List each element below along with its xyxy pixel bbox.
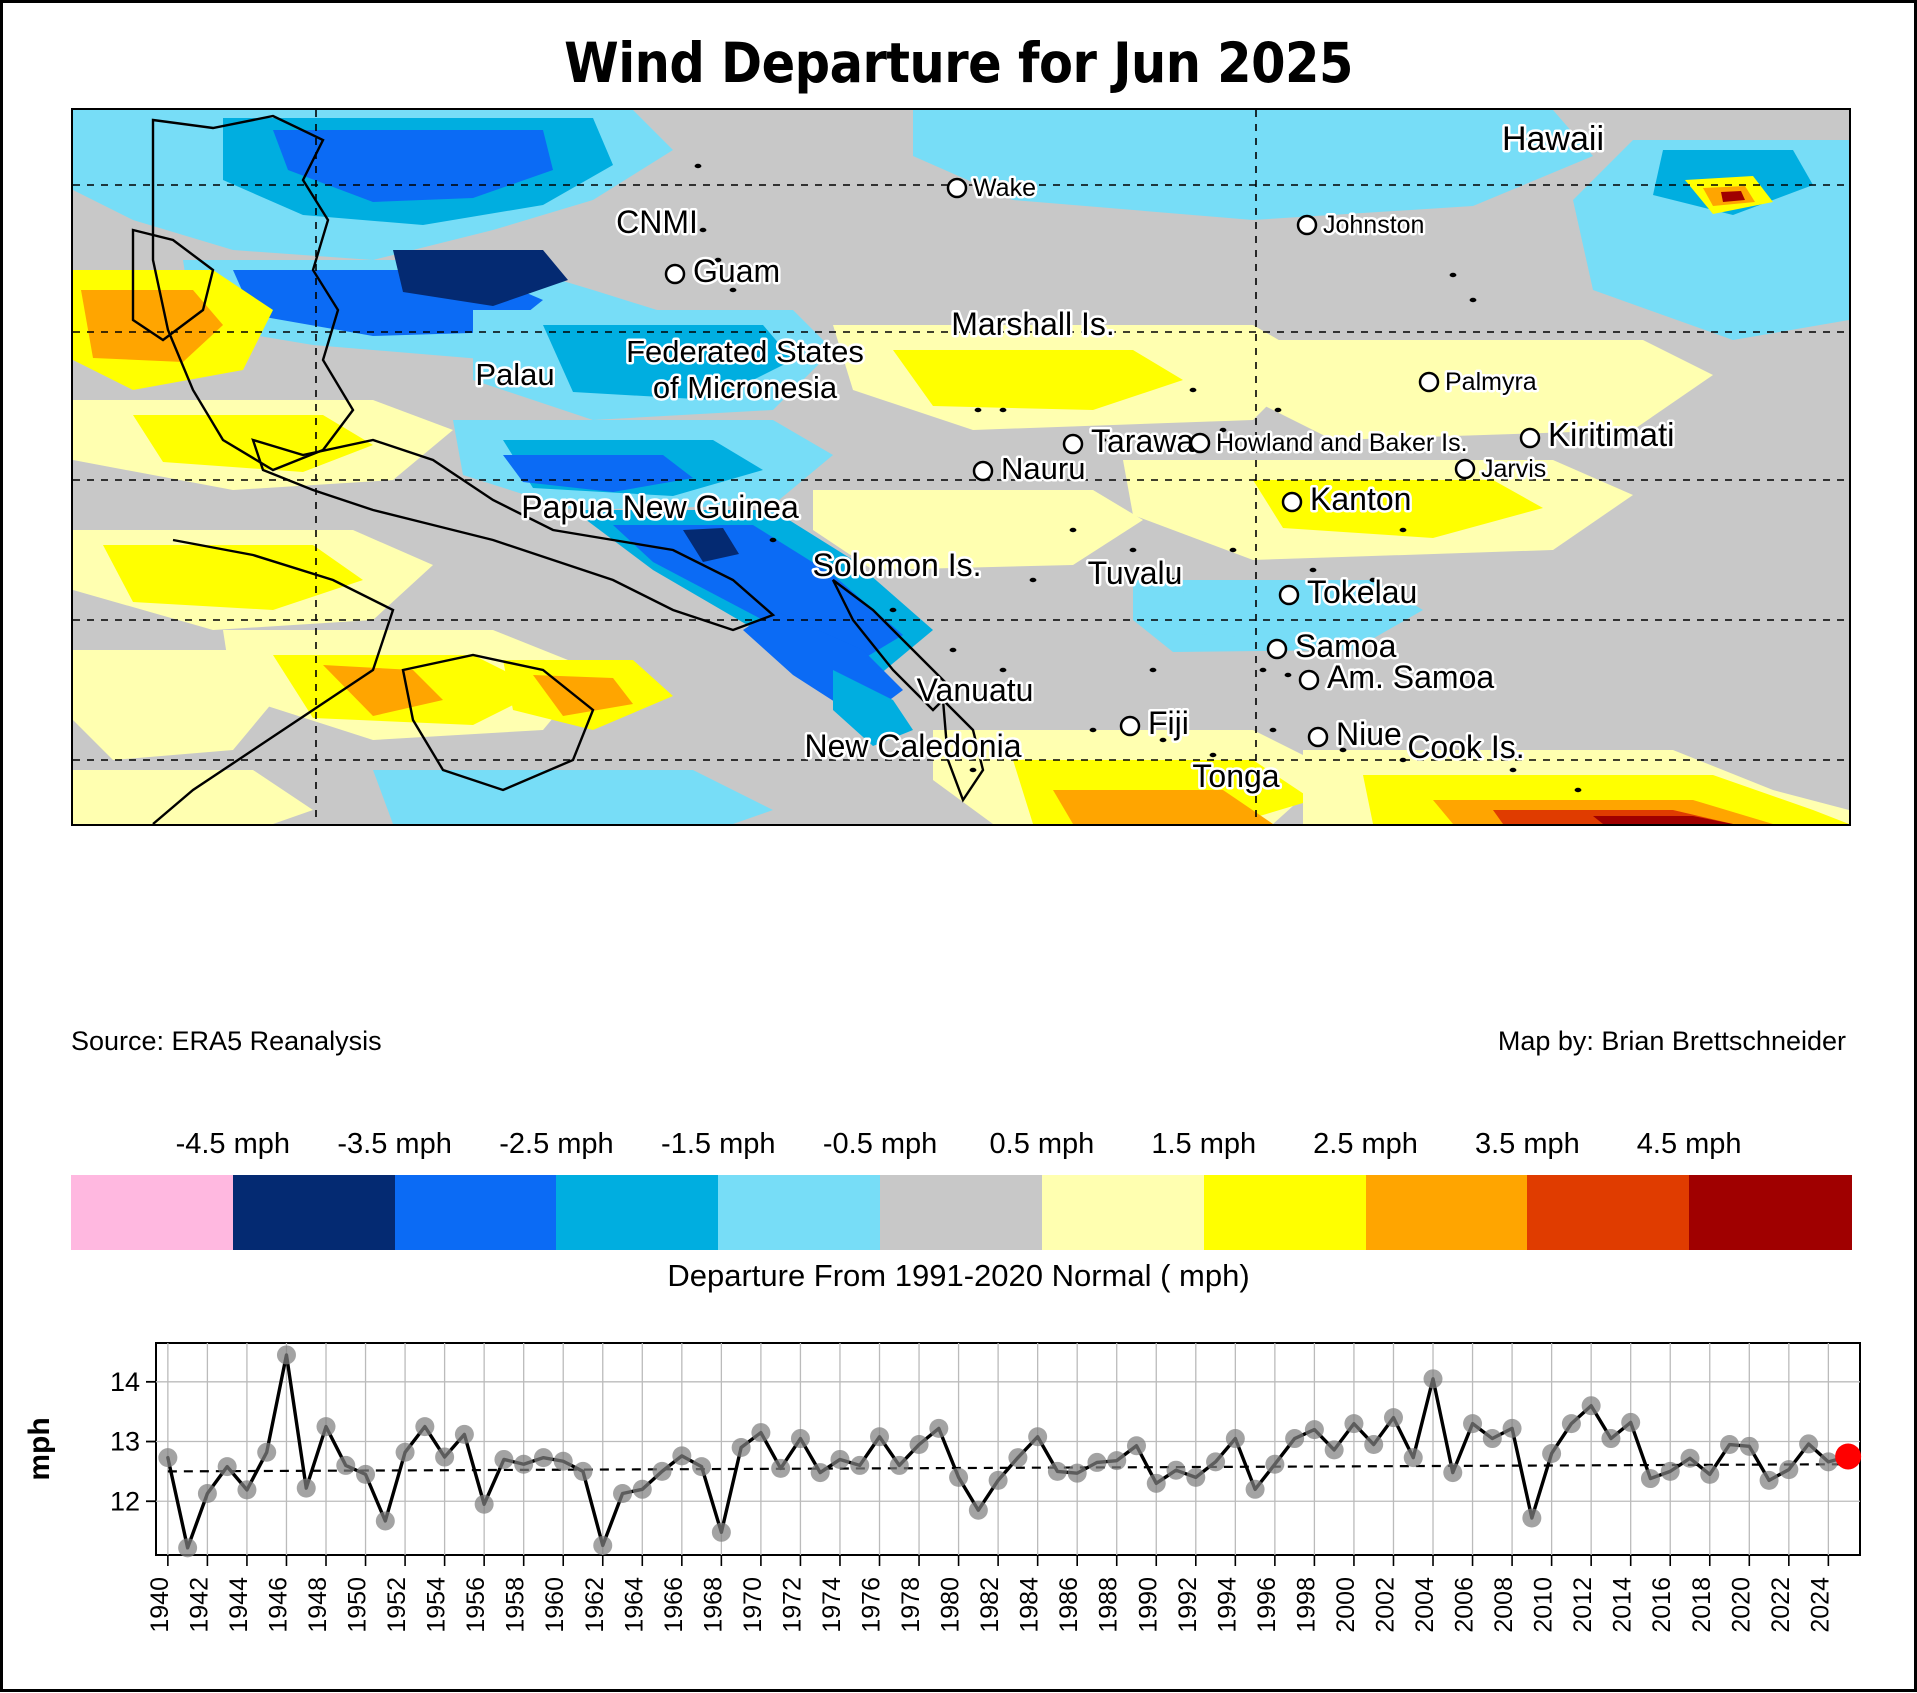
xtick-label-1994: 1994 (1213, 1577, 1241, 1633)
city-marker-howland-and-baker-is- (1191, 434, 1209, 452)
xtick-label-1996: 1996 (1253, 1577, 1281, 1633)
xtick-label-1970: 1970 (739, 1577, 767, 1633)
city-marker-samoa (1268, 640, 1286, 658)
data-point-1946 (277, 1345, 296, 1364)
xtick-label-1972: 1972 (778, 1577, 806, 1633)
map-label-fiji: Fiji (1148, 705, 1189, 741)
data-point-2008 (1503, 1419, 1522, 1438)
map-label-wake: Wake (973, 174, 1036, 202)
data-point-1975 (850, 1456, 869, 1475)
data-point-1999 (1325, 1440, 1344, 1459)
author-credit: Map by: Brian Brettschneider (1498, 1026, 1846, 1057)
data-point-2019 (1720, 1435, 1739, 1454)
xtick-label-1954: 1954 (423, 1577, 451, 1633)
island-speck (1130, 548, 1137, 552)
data-point-1941 (178, 1538, 197, 1557)
data-point-1962 (593, 1536, 612, 1555)
xtick-label-2014: 2014 (1609, 1577, 1637, 1633)
data-point-1993 (1206, 1452, 1225, 1471)
island-speck (1270, 728, 1277, 732)
city-marker-guam (666, 265, 684, 283)
data-point-1980 (949, 1468, 968, 1487)
map-label-palau: Palau (475, 357, 554, 392)
data-point-1990 (1147, 1474, 1166, 1493)
data-point-2014 (1621, 1413, 1640, 1432)
data-point-1953 (415, 1417, 434, 1436)
xtick-label-1982: 1982 (976, 1577, 1004, 1633)
data-point-1948 (317, 1417, 336, 1436)
data-point-1981 (969, 1501, 988, 1520)
island-speck (1285, 673, 1292, 677)
island-speck (1190, 388, 1197, 392)
colorbar-band-3 (556, 1175, 718, 1250)
data-point-2005 (1443, 1463, 1462, 1482)
island-speck (970, 768, 977, 772)
data-point-2011 (1562, 1414, 1581, 1433)
map-label-solomon-is-: Solomon Is. (813, 547, 982, 583)
city-marker-tokelau (1280, 586, 1298, 604)
data-point-1971 (771, 1459, 790, 1478)
data-point-2017 (1680, 1449, 1699, 1468)
xtick-label-2006: 2006 (1451, 1577, 1479, 1633)
xtick-label-2012: 2012 (1569, 1577, 1597, 1633)
data-point-2000 (1344, 1414, 1363, 1433)
data-point-2022 (1779, 1460, 1798, 1479)
island-speck (700, 228, 707, 232)
xtick-label-2016: 2016 (1648, 1577, 1676, 1633)
timeseries-chart: 1940194219441946194819501952195419561958… (3, 1333, 1917, 1693)
data-point-2003 (1404, 1448, 1423, 1467)
data-point-2025 (1835, 1443, 1861, 1469)
data-point-1995 (1246, 1480, 1265, 1499)
data-point-2007 (1483, 1429, 1502, 1448)
data-point-1970 (751, 1423, 770, 1442)
data-point-1964 (633, 1480, 652, 1499)
data-point-2023 (1799, 1434, 1818, 1453)
island-speck (1150, 668, 1157, 672)
data-point-1979 (929, 1419, 948, 1438)
island-speck (695, 164, 702, 168)
island-speck (950, 648, 957, 652)
ytick-label-14: 14 (110, 1367, 140, 1397)
data-point-1949 (336, 1456, 355, 1475)
xtick-label-2010: 2010 (1530, 1577, 1558, 1633)
data-point-1956 (475, 1495, 494, 1514)
map-label-of-micronesia: of Micronesia (653, 370, 838, 405)
data-point-1976 (870, 1427, 889, 1446)
map-label-tokelau: Tokelau (1307, 574, 1417, 610)
data-point-1991 (1167, 1461, 1186, 1480)
data-point-1944 (237, 1480, 256, 1499)
map-label-niue: Niue (1336, 716, 1402, 752)
colorbar-band-6 (1042, 1175, 1204, 1250)
map-label-federated-states: Federated States (626, 334, 864, 369)
colorbar (71, 1175, 1851, 1250)
island-speck (1450, 273, 1457, 277)
island-speck (1400, 528, 1407, 532)
island-speck (1310, 568, 1317, 572)
colorbar-caption: Departure From 1991-2020 Normal ( mph) (3, 1258, 1914, 1294)
data-point-1950 (356, 1465, 375, 1484)
colorbar-tick-4: -0.5 mph (823, 1128, 937, 1161)
island-speck (1275, 408, 1282, 412)
xtick-label-1998: 1998 (1292, 1577, 1320, 1633)
xtick-label-1962: 1962 (581, 1577, 609, 1633)
data-point-1989 (1127, 1436, 1146, 1455)
colorbar-tick-6: 1.5 mph (1151, 1128, 1256, 1161)
island-speck (1230, 548, 1237, 552)
island-speck (890, 608, 897, 612)
xtick-label-2004: 2004 (1411, 1577, 1439, 1633)
colorbar-band-9 (1527, 1175, 1689, 1250)
map-canvas: HawaiiWakeJohnstonCNMIGuamMarshall Is.Fe… (73, 110, 1849, 824)
island-speck (1000, 408, 1007, 412)
data-point-1955 (455, 1425, 474, 1444)
map-label-johnston: Johnston (1323, 211, 1424, 239)
map-label-howland-and-baker-is-: Howland and Baker Is. (1216, 429, 1468, 457)
source-credit: Source: ERA5 Reanalysis (71, 1026, 382, 1057)
data-point-1988 (1107, 1451, 1126, 1470)
map-label-cnmi: CNMI (616, 204, 698, 240)
data-point-1952 (396, 1443, 415, 1462)
city-marker-am-samoa (1300, 671, 1318, 689)
xtick-label-1946: 1946 (264, 1577, 292, 1633)
island-speck (1030, 578, 1037, 582)
map-label-vanuatu: Vanuatu (917, 672, 1034, 708)
xtick-label-1980: 1980 (937, 1577, 965, 1633)
data-point-2016 (1661, 1462, 1680, 1481)
city-marker-jarvis (1456, 460, 1474, 478)
data-point-2006 (1463, 1414, 1482, 1433)
xtick-label-2002: 2002 (1371, 1577, 1399, 1633)
xtick-label-1950: 1950 (344, 1577, 372, 1633)
xtick-label-1976: 1976 (858, 1577, 886, 1633)
map-label-cook-is-: Cook Is. (1407, 729, 1524, 765)
xtick-label-1992: 1992 (1174, 1577, 1202, 1633)
data-point-1997 (1285, 1429, 1304, 1448)
xtick-label-2008: 2008 (1490, 1577, 1518, 1633)
data-point-1994 (1226, 1429, 1245, 1448)
data-point-2012 (1582, 1396, 1601, 1415)
colorbar-tick-0: -4.5 mph (176, 1128, 290, 1161)
colorbar-tick-2: -2.5 mph (499, 1128, 613, 1161)
colorbar-tick-5: 0.5 mph (990, 1128, 1095, 1161)
map-label-tuvalu: Tuvalu (1088, 555, 1183, 591)
data-point-1951 (376, 1511, 395, 1530)
data-point-2020 (1740, 1437, 1759, 1456)
xtick-label-1940: 1940 (146, 1577, 174, 1633)
data-point-2009 (1522, 1508, 1541, 1527)
xtick-label-1984: 1984 (1016, 1577, 1044, 1633)
xtick-label-1968: 1968 (699, 1577, 727, 1633)
data-point-1986 (1068, 1464, 1087, 1483)
data-point-1942 (198, 1484, 217, 1503)
xtick-label-1948: 1948 (304, 1577, 332, 1633)
xtick-label-1966: 1966 (660, 1577, 688, 1633)
colorbar-band-5 (880, 1175, 1042, 1250)
xtick-label-1944: 1944 (225, 1577, 253, 1633)
xtick-label-1974: 1974 (818, 1577, 846, 1633)
xtick-label-1964: 1964 (620, 1577, 648, 1633)
map-label-tonga: Tonga (1192, 758, 1279, 794)
city-marker-fiji (1121, 717, 1139, 735)
data-point-1973 (811, 1463, 830, 1482)
data-point-1998 (1305, 1420, 1324, 1439)
data-point-2013 (1601, 1429, 1620, 1448)
data-point-1963 (613, 1484, 632, 1503)
xtick-label-2000: 2000 (1332, 1577, 1360, 1633)
map-label-nauru: Nauru (1001, 451, 1085, 486)
colorbar-tick-3: -1.5 mph (661, 1128, 775, 1161)
colorbar-tick-7: 2.5 mph (1313, 1128, 1418, 1161)
data-point-1972 (791, 1429, 810, 1448)
colorbar-band-1 (233, 1175, 395, 1250)
colorbar-band-0 (71, 1175, 233, 1250)
data-point-1954 (435, 1448, 454, 1467)
xtick-label-1990: 1990 (1134, 1577, 1162, 1633)
figure-root: Wind Departure for Jun 2025 HawaiiWakeJo… (0, 0, 1917, 1692)
colorbar-tick-1: -3.5 mph (337, 1128, 451, 1161)
xtick-label-1942: 1942 (185, 1577, 213, 1633)
data-point-2015 (1641, 1469, 1660, 1488)
ytick-label-13: 13 (110, 1427, 140, 1457)
data-point-1959 (534, 1448, 553, 1467)
map-label-tarawa: Tarawa (1091, 423, 1194, 459)
island-speck (1260, 668, 1267, 672)
data-point-1945 (257, 1443, 276, 1462)
map-label-kanton: Kanton (1310, 481, 1411, 517)
data-point-2010 (1542, 1444, 1561, 1463)
ytick-label-12: 12 (110, 1486, 140, 1516)
colorbar-band-2 (395, 1175, 557, 1250)
island-speck (1575, 788, 1582, 792)
map-label-jarvis: Jarvis (1481, 455, 1546, 483)
y-axis-label: mph (23, 1417, 56, 1480)
data-point-1974 (830, 1450, 849, 1469)
data-point-1967 (692, 1457, 711, 1476)
data-point-1977 (890, 1456, 909, 1475)
xtick-label-1956: 1956 (462, 1577, 490, 1633)
city-marker-palmyra (1420, 373, 1438, 391)
island-speck (975, 408, 982, 412)
colorbar-band-7 (1204, 1175, 1366, 1250)
timeseries-canvas: 1940194219441946194819501952195419561958… (3, 1333, 1917, 1693)
data-point-2021 (1760, 1471, 1779, 1490)
xtick-label-1988: 1988 (1095, 1577, 1123, 1633)
data-point-1985 (1048, 1462, 1067, 1481)
map-label-new-caledonia: New Caledonia (804, 728, 1021, 764)
data-point-1958 (514, 1455, 533, 1474)
map-label-am-samoa: Am. Samoa (1327, 659, 1494, 695)
map-label-marshall-is-: Marshall Is. (951, 306, 1115, 342)
data-point-2002 (1384, 1408, 1403, 1427)
map-label-hawaii: Hawaii (1502, 120, 1604, 158)
colorbar-band-10 (1689, 1175, 1851, 1250)
city-marker-kiritimati (1521, 429, 1539, 447)
page-title: Wind Departure for Jun 2025 (3, 31, 1914, 95)
data-point-1978 (910, 1435, 929, 1454)
data-point-1987 (1087, 1453, 1106, 1472)
island-speck (1070, 528, 1077, 532)
data-point-1943 (218, 1457, 237, 1476)
city-marker-wake (948, 179, 966, 197)
data-point-1961 (573, 1462, 592, 1481)
colorbar-tick-8: 3.5 mph (1475, 1128, 1580, 1161)
data-point-1982 (989, 1471, 1008, 1490)
data-point-1947 (297, 1479, 316, 1498)
city-marker-nauru (974, 462, 992, 480)
data-point-1968 (712, 1523, 731, 1542)
xtick-label-1952: 1952 (383, 1577, 411, 1633)
xtick-label-1958: 1958 (502, 1577, 530, 1633)
city-marker-niue (1309, 728, 1327, 746)
map-label-kiritimati: Kiritimati (1548, 416, 1675, 453)
map-label-papua-new-guinea: Papua New Guinea (521, 489, 799, 525)
city-marker-johnston (1298, 216, 1316, 234)
island-speck (1510, 768, 1517, 772)
data-point-1992 (1186, 1468, 1205, 1487)
xtick-label-1978: 1978 (897, 1577, 925, 1633)
island-speck (770, 538, 777, 542)
island-speck (1090, 728, 1097, 732)
data-point-1966 (672, 1446, 691, 1465)
xtick-label-1960: 1960 (541, 1577, 569, 1633)
data-point-1965 (653, 1462, 672, 1481)
data-point-2024 (1819, 1452, 1838, 1471)
data-point-2018 (1700, 1465, 1719, 1484)
data-point-2004 (1424, 1369, 1443, 1388)
data-point-1940 (158, 1448, 177, 1467)
xtick-label-2018: 2018 (1688, 1577, 1716, 1633)
colorbar-band-8 (1366, 1175, 1528, 1250)
xtick-label-2020: 2020 (1727, 1577, 1755, 1633)
data-point-1984 (1028, 1427, 1047, 1446)
data-point-1983 (1008, 1448, 1027, 1467)
colorbar-band-4 (718, 1175, 880, 1250)
colorbar-tick-9: 4.5 mph (1637, 1128, 1742, 1161)
city-marker-kanton (1283, 493, 1301, 511)
data-point-2001 (1364, 1435, 1383, 1454)
island-speck (1210, 753, 1217, 757)
wind-departure-map: HawaiiWakeJohnstonCNMIGuamMarshall Is.Fe… (71, 108, 1851, 826)
xtick-label-2022: 2022 (1767, 1577, 1795, 1633)
xtick-label-1986: 1986 (1055, 1577, 1083, 1633)
map-label-guam: Guam (693, 253, 780, 289)
data-point-1969 (732, 1438, 751, 1457)
data-point-1957 (494, 1450, 513, 1469)
island-speck (1470, 298, 1477, 302)
data-point-1996 (1265, 1455, 1284, 1474)
xtick-label-2024: 2024 (1806, 1577, 1834, 1633)
data-point-1960 (554, 1452, 573, 1471)
map-label-palmyra: Palmyra (1445, 368, 1537, 396)
